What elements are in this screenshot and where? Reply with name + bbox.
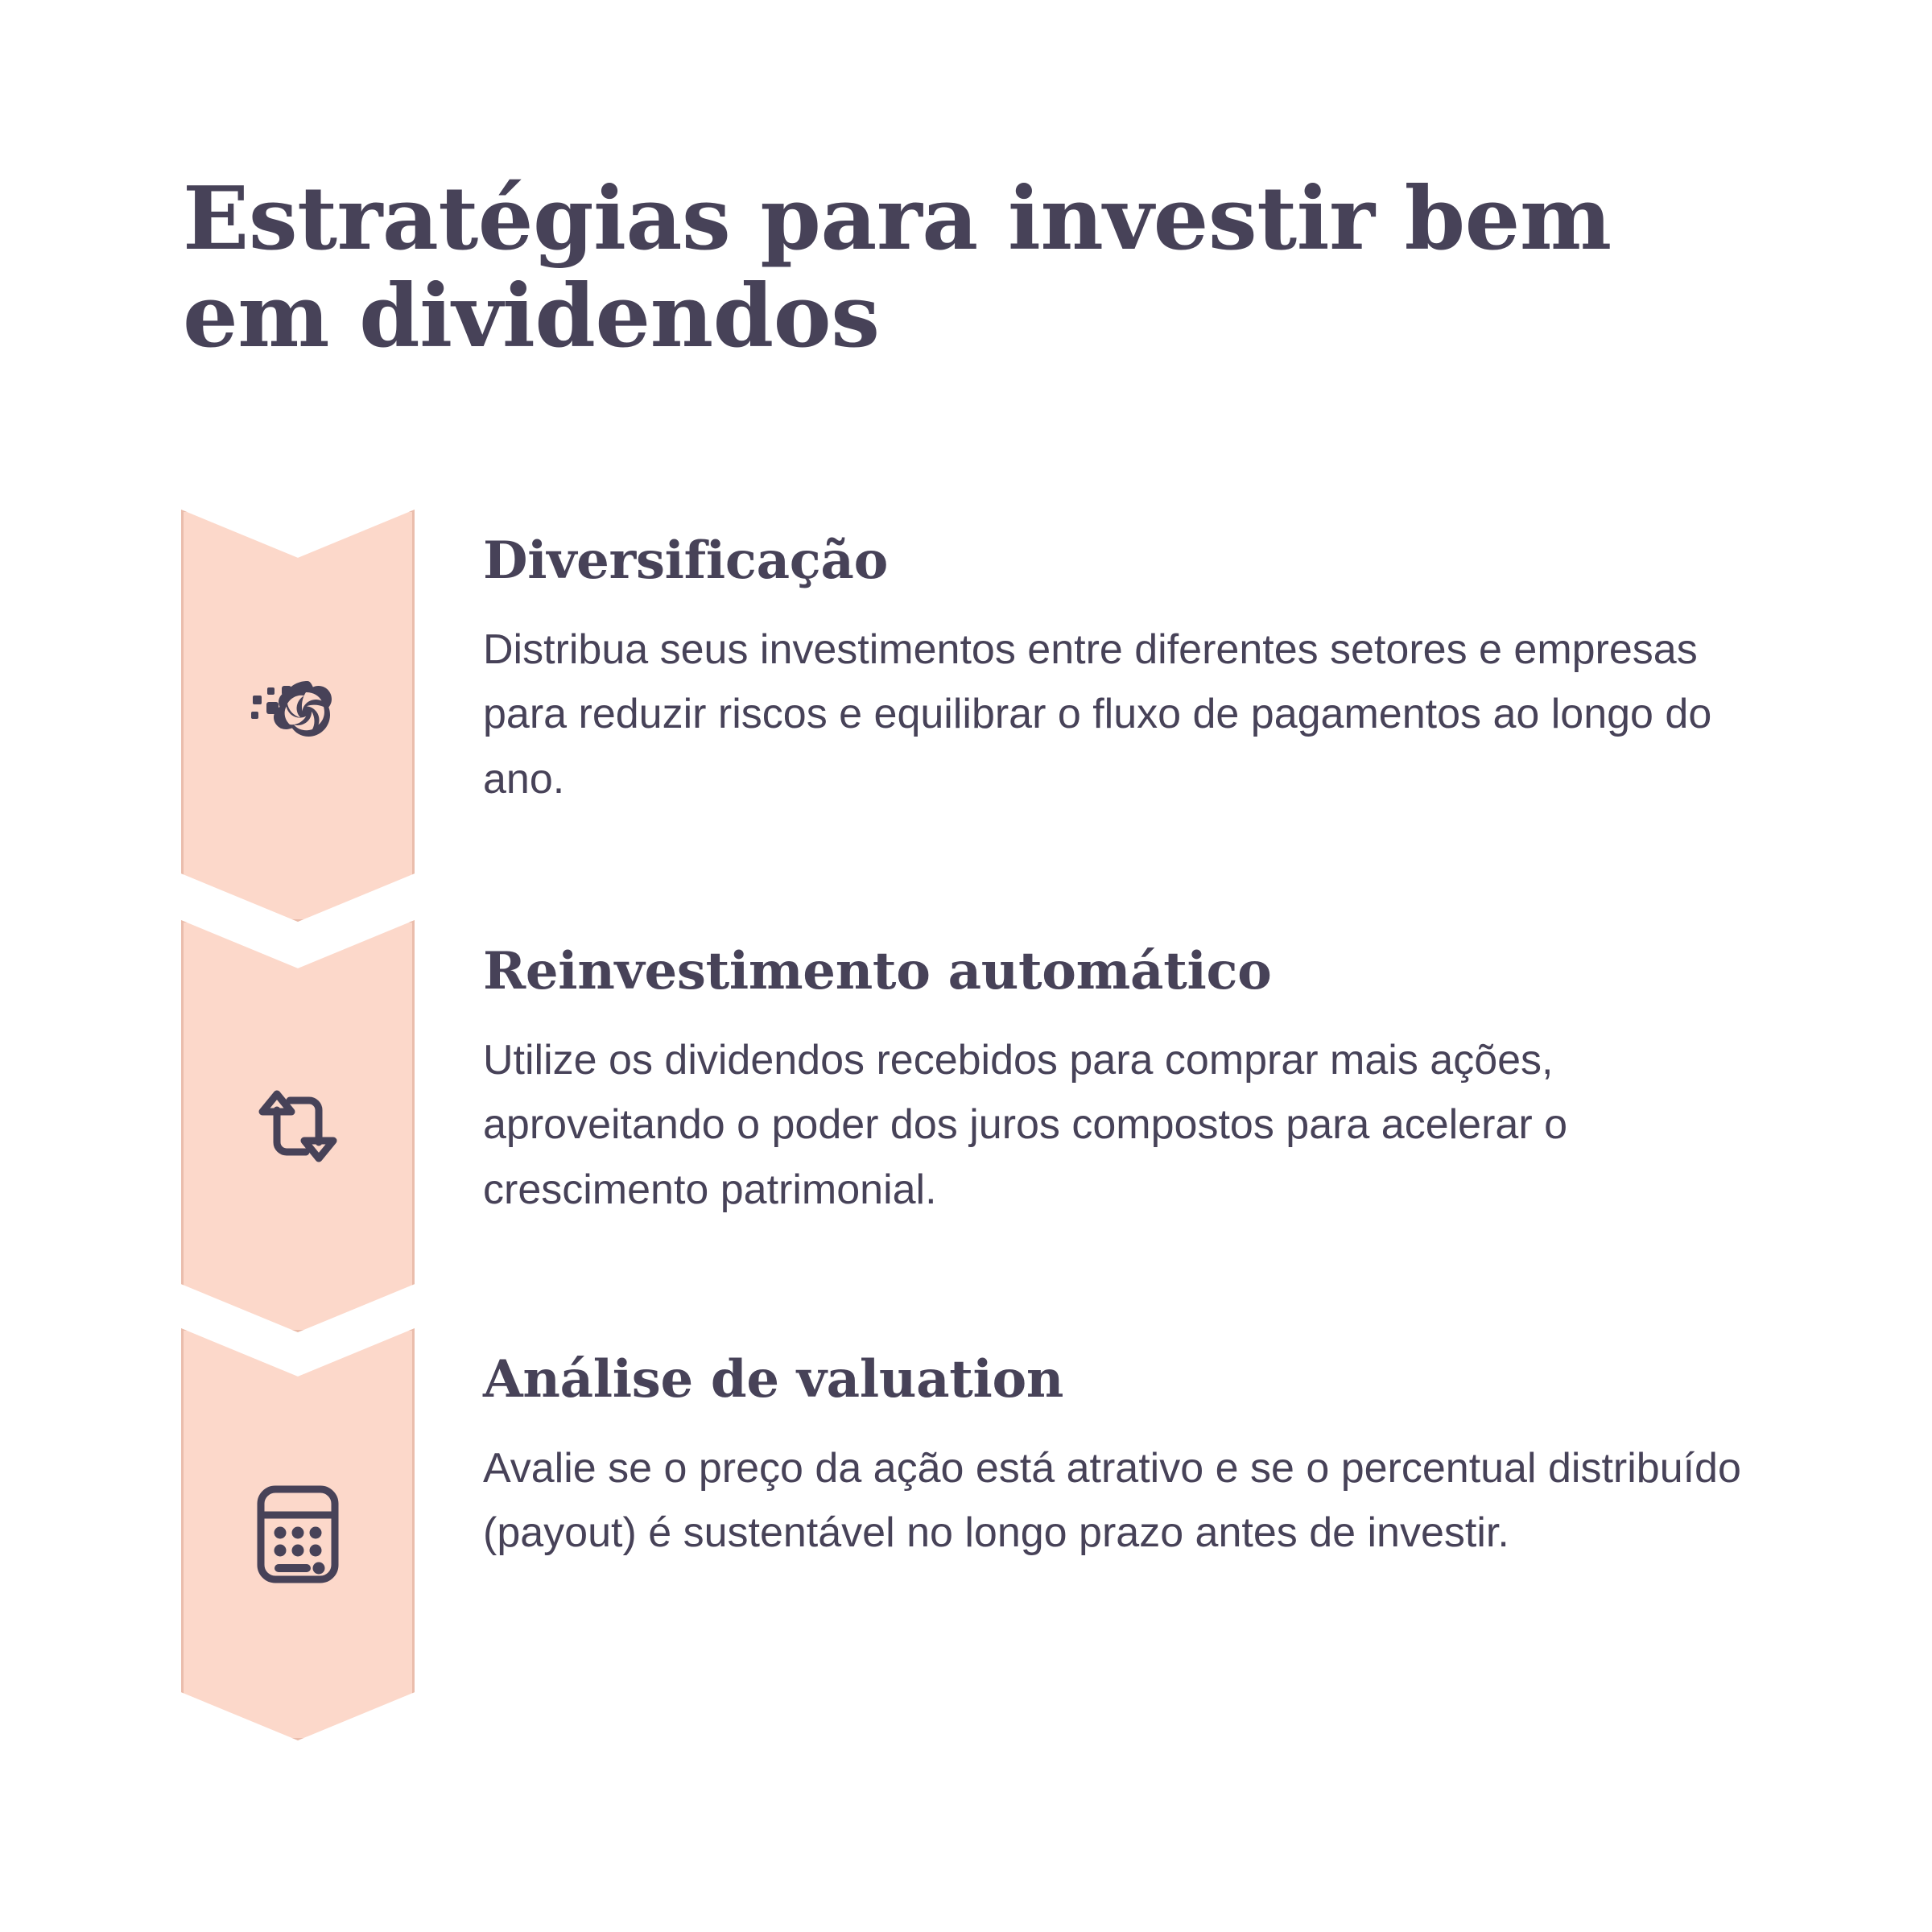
step-text-block: Reinvestimento automático Utilize os div… bbox=[483, 943, 1755, 1222]
step-item: Análise de valuation Avalie se o preço d… bbox=[0, 1328, 1932, 1740]
step-heading: Análise de valuation bbox=[483, 1351, 1755, 1409]
calculator-icon bbox=[181, 1328, 415, 1740]
step-item: Reinvestimento automático Utilize os div… bbox=[0, 920, 1932, 1332]
step-text-block: Diversificação Distribua seus investimen… bbox=[483, 532, 1755, 811]
infographic-page: Estratégias para investir bem em dividen… bbox=[0, 0, 1932, 1932]
step-description: Distribua seus investimentos entre difer… bbox=[483, 617, 1755, 812]
steps-list: Diversificação Distribua seus investimen… bbox=[0, 0, 1932, 1932]
step-heading: Diversificação bbox=[483, 532, 1755, 590]
step-description: Avalie se o preço da ação está atrativo … bbox=[483, 1436, 1755, 1566]
step-item: Diversificação Distribua seus investimen… bbox=[0, 510, 1932, 922]
dispersion-cloud-icon bbox=[181, 510, 415, 922]
step-heading: Reinvestimento automático bbox=[483, 943, 1755, 1001]
step-description: Utilize os dividendos recebidos para com… bbox=[483, 1028, 1755, 1223]
repeat-cycle-arrows-icon bbox=[181, 920, 415, 1332]
step-text-block: Análise de valuation Avalie se o preço d… bbox=[483, 1351, 1755, 1566]
